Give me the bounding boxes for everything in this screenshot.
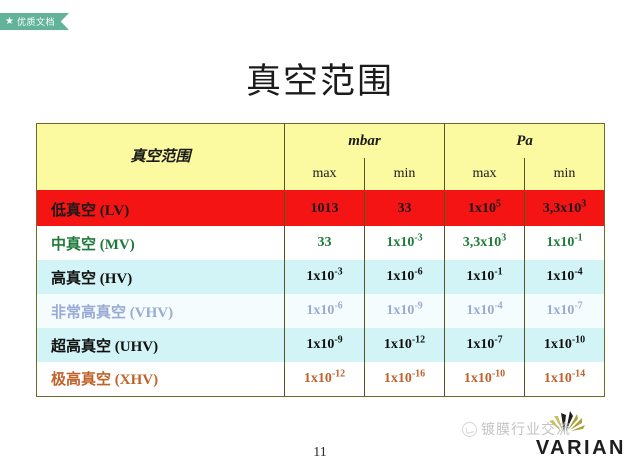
column-header-pa-max: max [445,158,525,190]
cell-lv-mbar-min: 33 [365,192,445,226]
cell-uhv-mbar-max: 1x10-9 [285,328,365,362]
row-label-lv: 低真空 (LV) [37,192,285,226]
table-header: 真空范围 mbar Pa max min max min [37,124,605,191]
brand-logo-block: VARIAN 镀膜行业交流 [462,407,632,463]
cell-hv-mbar-min: 1x10-6 [365,260,445,294]
cell-xhv-pa-max: 1x10-10 [445,362,525,396]
watermark-circle-icon [462,422,477,437]
cell-lv-pa-min: 3,3x103 [525,192,605,226]
cell-uhv-pa-min: 1x10-10 [525,328,605,362]
page-title: 真空范围 [0,53,640,104]
vacuum-range-table: 真空范围 mbar Pa max min max min 低真空 (LV) 10… [36,123,605,397]
table-row: 非常高真空 (VHV) 1x10-6 1x10-9 1x10-4 1x10-7 [37,294,605,328]
cell-vhv-pa-max: 1x10-4 [445,294,525,328]
cell-vhv-mbar-min: 1x10-9 [365,294,445,328]
table-row: 极高真空 (XHV) 1x10-12 1x10-16 1x10-10 1x10-… [37,362,605,396]
table-row: 中真空 (MV) 33 1x10-3 3,3x103 1x10-1 [37,226,605,260]
cell-hv-pa-max: 1x10-1 [445,260,525,294]
cell-uhv-mbar-min: 1x10-12 [365,328,445,362]
column-header-pa-min: min [525,158,605,190]
cell-xhv-mbar-max: 1x10-12 [285,362,365,396]
row-label-xhv: 极高真空 (XHV) [37,362,285,396]
row-label-vhv: 非常高真空 (VHV) [37,294,285,328]
table-row: 超高真空 (UHV) 1x10-9 1x10-12 1x10-7 1x10-10 [37,328,605,362]
cell-xhv-mbar-min: 1x10-16 [365,362,445,396]
watermark: 镀膜行业交流 [462,419,632,439]
cell-hv-pa-min: 1x10-4 [525,260,605,294]
cell-mv-mbar-min: 1x10-3 [365,226,445,260]
varian-wordmark: VARIAN [536,437,626,460]
column-header-mbar: mbar [285,124,445,159]
table-row: 高真空 (HV) 1x10-3 1x10-6 1x10-1 1x10-4 [37,260,605,294]
table-row: 低真空 (LV) 1013 33 1x105 3,3x103 [37,192,605,226]
row-label-mv: 中真空 (MV) [37,226,285,260]
cell-lv-pa-max: 1x105 [445,192,525,226]
cell-mv-pa-min: 1x10-1 [525,226,605,260]
cell-uhv-pa-max: 1x10-7 [445,328,525,362]
watermark-label: 镀膜行业交流 [481,419,571,439]
quality-doc-badge-label: 优质文档 [17,15,55,28]
cell-hv-mbar-max: 1x10-3 [285,260,365,294]
cell-mv-mbar-max: 33 [285,226,365,260]
row-label-uhv: 超高真空 (UHV) [37,328,285,362]
star-icon: ★ [5,17,14,26]
cell-mv-pa-max: 3,3x103 [445,226,525,260]
cell-vhv-mbar-max: 1x10-6 [285,294,365,328]
row-label-hv: 高真空 (HV) [37,260,285,294]
quality-doc-badge[interactable]: ★ 优质文档 [0,13,69,30]
column-header-range: 真空范围 [37,124,285,191]
cell-xhv-pa-min: 1x10-14 [525,362,605,396]
table-body: 低真空 (LV) 1013 33 1x105 3,3x103 中真空 (MV) … [37,190,605,396]
cell-lv-mbar-max: 1013 [285,192,365,226]
cell-vhv-pa-min: 1x10-7 [525,294,605,328]
column-header-mbar-max: max [285,158,365,190]
column-header-mbar-min: min [365,158,445,190]
column-header-pa: Pa [445,124,605,159]
